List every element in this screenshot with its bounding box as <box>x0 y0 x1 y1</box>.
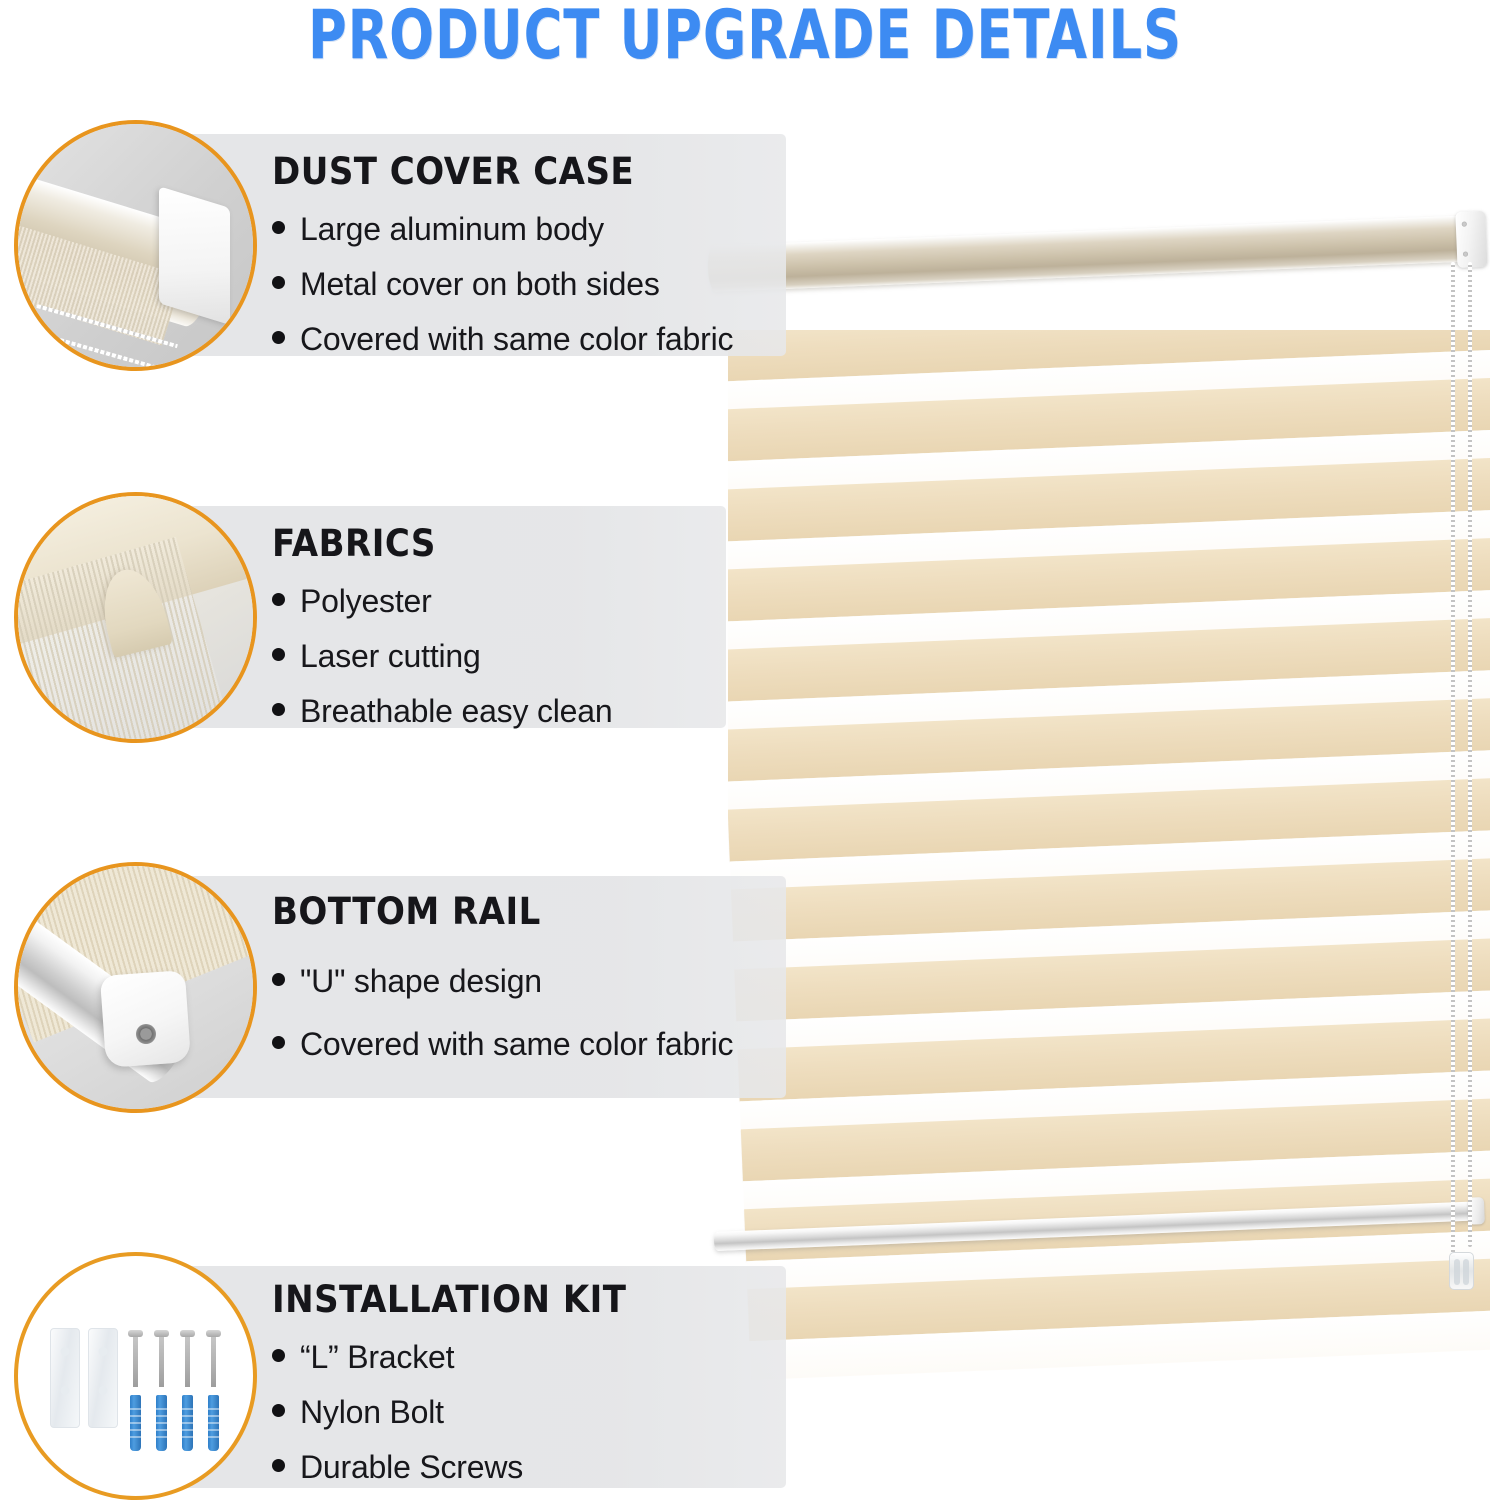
bullet-text: Nylon Bolt <box>300 1394 444 1431</box>
bullet-dot-icon <box>272 1036 285 1049</box>
bullet-text: Covered with same color fabric <box>300 321 733 358</box>
cap-screw-icon <box>1462 222 1467 227</box>
bullet-dot-icon <box>272 1349 285 1362</box>
bullet-text: Polyester <box>300 583 432 620</box>
fabric-photo <box>14 492 257 743</box>
screw-icon <box>159 1335 164 1387</box>
bullet-text: Metal cover on both sides <box>300 266 660 303</box>
list-item: Covered with same color fabric <box>272 1026 733 1063</box>
bullet-text: “L” Bracket <box>300 1339 454 1376</box>
bullet-dot-icon <box>272 1459 285 1472</box>
nylon-anchor-icon <box>130 1395 141 1451</box>
bullet-dot-icon <box>272 221 285 234</box>
screw-icon <box>133 1335 138 1387</box>
chain-strand-right <box>1468 262 1472 1247</box>
list-item: “L” Bracket <box>272 1339 657 1376</box>
list-item: Metal cover on both sides <box>272 266 733 303</box>
feature-bullet-list: "U" shape design Covered with same color… <box>272 963 733 1063</box>
bead-chain-control[interactable] <box>1445 262 1479 1302</box>
feature-heading: BOTTOM RAIL <box>272 890 696 933</box>
bullet-dot-icon <box>272 973 285 986</box>
feature-text-block: BOTTOM RAIL "U" shape design Covered wit… <box>272 890 733 1063</box>
bullet-text: Breathable easy clean <box>300 693 612 730</box>
feature-bullet-list: Large aluminum body Metal cover on both … <box>272 211 733 358</box>
screw-icon <box>185 1335 190 1387</box>
cap-screw-icon <box>1463 251 1468 256</box>
dust-cover-photo <box>14 120 257 371</box>
bullet-text: Covered with same color fabric <box>300 1026 733 1063</box>
list-item: Laser cutting <box>272 638 612 675</box>
bullet-dot-icon <box>272 593 285 606</box>
feature-bullet-list: Polyester Laser cutting Breathable easy … <box>272 583 612 730</box>
feature-heading: INSTALLATION KIT <box>272 1278 626 1321</box>
bullet-dot-icon <box>272 703 285 716</box>
bullet-text: Laser cutting <box>300 638 481 675</box>
page-title: PRODUCT UPGRADE DETAILS <box>119 0 1371 74</box>
screw-icon <box>211 1335 216 1387</box>
bullet-dot-icon <box>272 331 285 344</box>
feature-text-block: DUST COVER CASE Large aluminum body Meta… <box>272 150 733 358</box>
list-item: Durable Screws <box>272 1449 657 1486</box>
list-item: Breathable easy clean <box>272 693 612 730</box>
feature-fabrics: FABRICS Polyester Laser cutting Breathab… <box>14 492 794 742</box>
zebra-roller-blind-image <box>700 210 1490 1325</box>
top-rail-end-cap <box>1455 211 1487 268</box>
nylon-anchor-icon <box>182 1395 193 1451</box>
feature-bullet-list: “L” Bracket Nylon Bolt Durable Screws <box>272 1339 657 1486</box>
top-rail-valance <box>707 215 1476 292</box>
list-item: Nylon Bolt <box>272 1394 657 1431</box>
bullet-dot-icon <box>272 648 285 661</box>
feature-installation-kit: INSTALLATION KIT “L” Bracket Nylon Bolt … <box>14 1252 794 1500</box>
bullet-text: Large aluminum body <box>300 211 604 248</box>
l-bracket-icon <box>88 1328 118 1428</box>
feature-bottom-rail: BOTTOM RAIL "U" shape design Covered wit… <box>14 862 794 1112</box>
chain-connector-clip[interactable] <box>1449 1252 1474 1290</box>
feature-text-block: INSTALLATION KIT “L” Bracket Nylon Bolt … <box>272 1278 657 1486</box>
bullet-text: Durable Screws <box>300 1449 523 1486</box>
nylon-anchor-icon <box>156 1395 167 1451</box>
bullet-dot-icon <box>272 1404 285 1417</box>
feature-text-block: FABRICS Polyester Laser cutting Breathab… <box>272 522 612 730</box>
feature-heading: FABRICS <box>272 522 585 565</box>
bullet-dot-icon <box>272 276 285 289</box>
installation-kit-photo <box>14 1252 257 1500</box>
nylon-anchor-icon <box>208 1395 219 1451</box>
feature-dust-cover-case: DUST COVER CASE Large aluminum body Meta… <box>14 120 794 370</box>
list-item: "U" shape design <box>272 963 733 1000</box>
list-item: Polyester <box>272 583 612 620</box>
feature-heading: DUST COVER CASE <box>272 150 696 193</box>
list-item: Large aluminum body <box>272 211 733 248</box>
chain-strand-left <box>1451 262 1455 1262</box>
list-item: Covered with same color fabric <box>272 321 733 358</box>
l-bracket-icon <box>50 1328 80 1428</box>
bottom-rail-photo <box>14 862 257 1113</box>
bullet-text: "U" shape design <box>300 963 542 1000</box>
product-infographic: PRODUCT UPGRADE DETAILS <box>0 0 1490 1500</box>
